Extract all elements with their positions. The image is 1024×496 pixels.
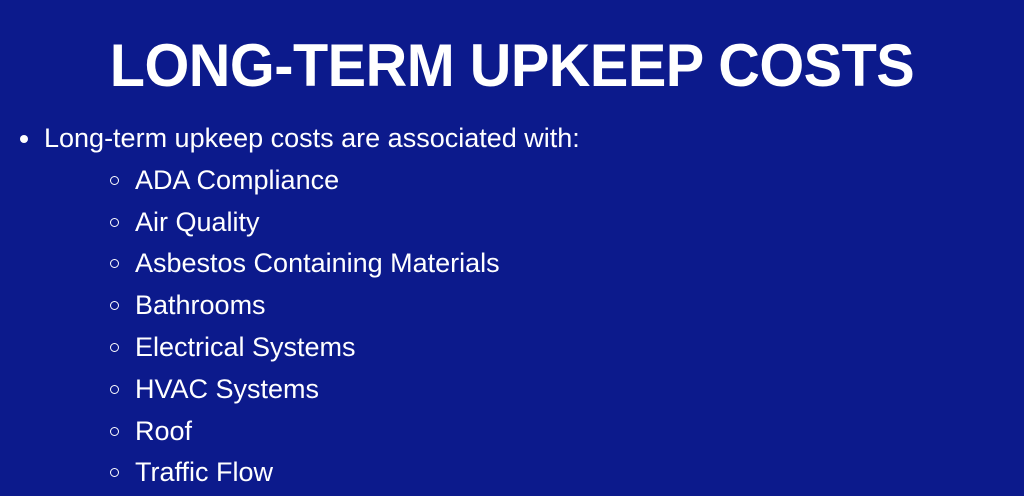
presentation-slide: LONG-TERM UPKEEP COSTS Long-term upkeep … (0, 0, 1024, 496)
hollow-circle-icon (110, 427, 119, 436)
list-item-label: Bathrooms (135, 290, 266, 320)
hollow-circle-icon (110, 343, 119, 352)
list-item-label: Air Quality (135, 207, 260, 237)
hollow-circle-icon (110, 259, 119, 268)
filled-disc-icon (20, 135, 28, 143)
outline-level1-item: Long-term upkeep costs are associated wi… (0, 118, 1024, 494)
outline-level2-list: ADA Compliance Air Quality Asbestos Cont… (44, 160, 1024, 494)
hollow-circle-icon (110, 176, 119, 185)
list-item: Air Quality (44, 202, 1024, 244)
hollow-circle-icon (110, 301, 119, 310)
list-item-label: Asbestos Containing Materials (135, 248, 500, 278)
hollow-circle-icon (110, 468, 119, 477)
list-item: Bathrooms (44, 285, 1024, 327)
list-item: ADA Compliance (44, 160, 1024, 202)
list-item: HVAC Systems (44, 369, 1024, 411)
slide-content-outline: Long-term upkeep costs are associated wi… (0, 118, 1024, 494)
list-item: Asbestos Containing Materials (44, 243, 1024, 285)
list-item: Roof (44, 411, 1024, 453)
list-item-label: ADA Compliance (135, 165, 339, 195)
list-item-label: Electrical Systems (135, 332, 356, 362)
list-item-label: Roof (135, 416, 192, 446)
list-item-label: HVAC Systems (135, 374, 319, 404)
slide-title: LONG-TERM UPKEEP COSTS (20, 34, 1003, 98)
list-item: Electrical Systems (44, 327, 1024, 369)
hollow-circle-icon (110, 385, 119, 394)
list-item-label: Traffic Flow (135, 457, 273, 487)
list-item: Traffic Flow (44, 452, 1024, 494)
outline-level1-label: Long-term upkeep costs are associated wi… (44, 123, 580, 153)
hollow-circle-icon (110, 218, 119, 227)
